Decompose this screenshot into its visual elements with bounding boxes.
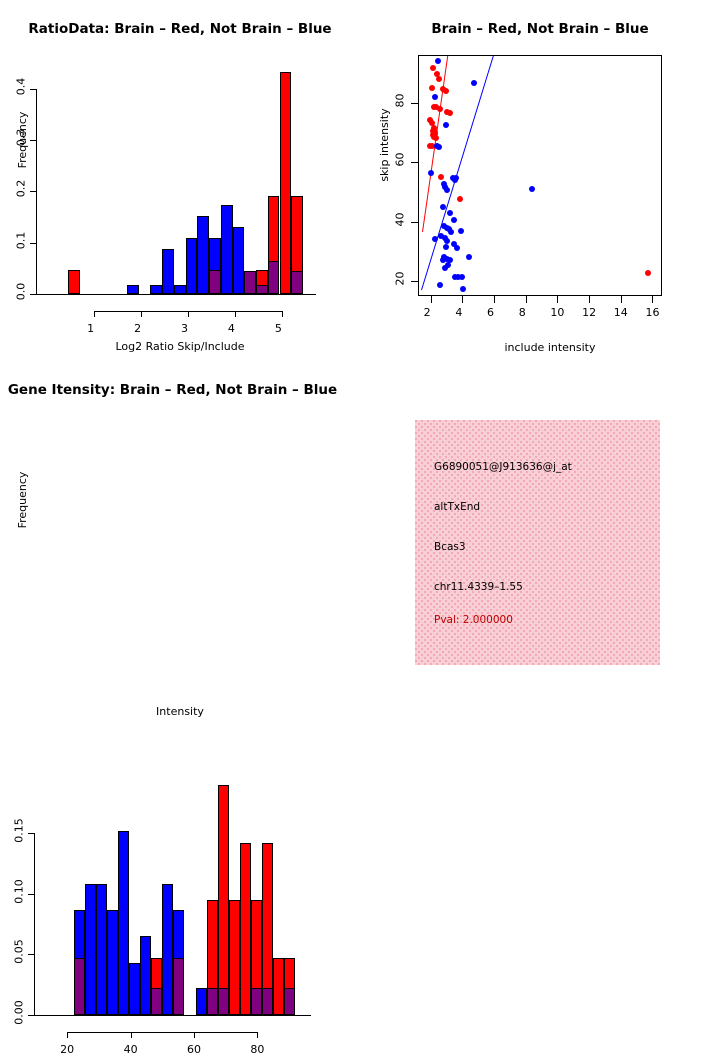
scatter-x-tick-label-3: 8 [519, 306, 526, 319]
y-tick-label-3: 0.3 [15, 122, 28, 152]
hist-bar-red-18 [273, 958, 284, 1015]
hist-bar-blue-14 [233, 227, 245, 294]
y-tick-label-3: 0.15 [13, 816, 26, 846]
hist-bar-blue-6 [140, 936, 151, 1015]
hist-bar-overlap-9 [173, 958, 184, 1015]
ratio-histogram-plot-area: 0.00.10.20.30.412345 [0, 0, 360, 360]
scatter-x-tick-6 [621, 296, 622, 303]
scatter-y-tick-3 [411, 103, 418, 104]
x-tick-label-1: 2 [134, 322, 141, 335]
hist-bar-red-0 [68, 270, 80, 294]
scatter-point-not-brain-5 [436, 144, 442, 150]
scatter-point-brain-24 [645, 270, 651, 276]
scatter-x-tick-label-5: 12 [582, 306, 596, 319]
x-tick-3 [235, 311, 236, 317]
scatter-point-not-brain-12 [444, 187, 450, 193]
hist-bar-overlap-19 [284, 988, 295, 1015]
scatter-x-tick-4 [557, 296, 558, 303]
scatter-x-tick-label-4: 10 [550, 306, 564, 319]
x-axis-line [67, 1032, 257, 1033]
scatter-point-brain-23 [457, 196, 463, 202]
scatter-point-not-brain-27 [443, 244, 449, 250]
scatter-x-tick-7 [652, 296, 653, 303]
hist-bar-overlap-15 [244, 271, 256, 294]
scatter-x-tick-3 [526, 296, 527, 303]
y-tick-label-2: 0.10 [13, 876, 26, 906]
hist-bar-blue-13 [221, 205, 233, 294]
scatter-point-not-brain-3 [443, 122, 449, 128]
hist-bar-blue-3 [107, 910, 118, 1015]
hist-bar-blue-5 [129, 963, 140, 1015]
x-tick-label-0: 1 [87, 322, 94, 335]
hist-bar-blue-7 [150, 285, 162, 294]
hist-bar-blue-9 [174, 285, 186, 294]
panel-gene-intensity-histogram: Gene Itensity: Brain – Red, Not Brain – … [0, 360, 360, 720]
y-tick-2 [30, 191, 36, 192]
scatter-y-tick-2 [411, 162, 418, 163]
scatter-point-not-brain-0 [435, 58, 441, 64]
probe-id-text: G6890051@J913636@j_at [434, 461, 572, 473]
hist-bar-blue-11 [197, 216, 209, 294]
hist-bar-red-15 [240, 843, 251, 1015]
scatter-clip [419, 56, 661, 295]
scatter-point-not-brain-6 [428, 170, 434, 176]
hist-bar-red-13 [218, 785, 229, 1015]
y-tick-label-4: 0.4 [15, 71, 28, 101]
scatter-y-tick-label-1: 40 [394, 204, 407, 234]
figure-canvas: RatioData: Brain – Red, Not Brain – Blue… [0, 0, 720, 720]
x-tick-label-2: 3 [181, 322, 188, 335]
y-tick-1 [28, 954, 34, 955]
hist-bar-overlap-17 [262, 988, 273, 1015]
scatter-y-tick-1 [411, 222, 418, 223]
scatter-x-tick-label-7: 16 [645, 306, 659, 319]
x-tick-4 [282, 311, 283, 317]
scatter-point-not-brain-35 [442, 265, 448, 271]
hist-bar-blue-11 [196, 988, 207, 1015]
scatter-point-not-brain-16 [451, 217, 457, 223]
y-tick-label-1: 0.1 [15, 225, 28, 255]
scatter-point-not-brain-15 [447, 210, 453, 216]
x-tick-label-1: 40 [124, 1043, 138, 1056]
scatter-point-brain-8 [437, 106, 443, 112]
scatter-point-not-brain-13 [529, 186, 535, 192]
scatter-plot-area: 20406080246810121416 [360, 0, 720, 360]
scatter-point-not-brain-1 [471, 80, 477, 86]
x-tick-label-3: 80 [250, 1043, 264, 1056]
y-tick-label-1: 0.05 [13, 937, 26, 967]
hist-bar-overlap-12 [209, 270, 221, 294]
scatter-x-tick-0 [431, 296, 432, 303]
hist-baseline [28, 1015, 311, 1016]
scatter-x-tick-label-6: 14 [614, 306, 628, 319]
hist-bar-red-18 [280, 72, 292, 294]
hist-bar-blue-4 [118, 831, 129, 1015]
scatter-point-brain-19 [433, 135, 439, 141]
y-tick-2 [28, 894, 34, 895]
x-tick-label-4: 5 [275, 322, 282, 335]
scatter-point-not-brain-39 [437, 282, 443, 288]
gene-intensity-plot-area: 0.000.050.100.1520406080 [0, 360, 360, 720]
x-tick-3 [257, 1032, 258, 1038]
hist-bar-overlap-7 [151, 988, 162, 1015]
hist-baseline [30, 294, 316, 295]
panel-intensity-scatter: Brain – Red, Not Brain – Blue skip inten… [360, 0, 720, 360]
hist-bar-blue-8 [162, 884, 173, 1015]
hist-bar-blue-10 [186, 238, 198, 294]
hist-bar-overlap-19 [291, 271, 303, 294]
hist-bar-overlap-16 [251, 988, 262, 1015]
x-tick-label-0: 20 [60, 1043, 74, 1056]
hist-bar-blue-1 [85, 884, 96, 1015]
y-axis-line [34, 833, 35, 1015]
scatter-point-brain-22 [438, 174, 444, 180]
scatter-point-not-brain-21 [448, 229, 454, 235]
probe-info-panel: G6890051@J913636@j_at altTxEnd Bcas3 chr… [415, 420, 660, 665]
hist-bar-overlap-17 [268, 261, 280, 294]
y-tick-label-0: 0.0 [15, 277, 28, 307]
scatter-y-tick-label-3: 80 [394, 85, 407, 115]
x-tick-label-3: 4 [228, 322, 235, 335]
gene-symbol-text: Bcas3 [434, 541, 466, 553]
y-tick-1 [30, 243, 36, 244]
hist-bar-overlap-12 [207, 988, 218, 1015]
scatter-point-not-brain-2 [432, 94, 438, 100]
scatter-y-tick-0 [411, 281, 418, 282]
scatter-y-tick-label-0: 20 [394, 264, 407, 294]
y-tick-label-2: 0.2 [15, 174, 28, 204]
x-tick-1 [131, 1032, 132, 1038]
scatter-x-tick-2 [494, 296, 495, 303]
x-tick-2 [194, 1032, 195, 1038]
scatter-x-tick-label-1: 4 [455, 306, 462, 319]
x-tick-0 [94, 311, 95, 317]
panel-ratio-histogram: RatioData: Brain – Red, Not Brain – Blue… [0, 0, 360, 360]
hist-bar-blue-8 [162, 249, 174, 294]
scatter-x-tick-1 [462, 296, 463, 303]
scatter-point-not-brain-32 [466, 254, 472, 260]
y-tick-3 [30, 140, 36, 141]
y-axis-line [36, 89, 37, 294]
scatter-x-tick-label-0: 2 [424, 306, 431, 319]
scatter-point-not-brain-28 [454, 245, 460, 251]
scatter-point-not-brain-38 [459, 274, 465, 280]
event-type-text: altTxEnd [434, 501, 480, 513]
hist-bar-red-14 [229, 900, 240, 1015]
x-tick-0 [67, 1032, 68, 1038]
hist-bar-overlap-13 [218, 988, 229, 1015]
scatter-point-not-brain-40 [460, 286, 466, 292]
hist-bar-blue-2 [96, 884, 107, 1015]
x-tick-2 [188, 311, 189, 317]
scatter-point-brain-3 [429, 85, 435, 91]
scatter-point-not-brain-9 [453, 175, 459, 181]
hist-bar-blue-5 [127, 285, 139, 294]
y-tick-4 [30, 89, 36, 90]
scatter-point-not-brain-20 [458, 228, 464, 234]
scatter-y-tick-label-2: 60 [394, 145, 407, 175]
x-tick-label-2: 60 [187, 1043, 201, 1056]
hist-bar-overlap-0 [74, 958, 85, 1015]
scatter-point-brain-10 [447, 110, 453, 116]
scatter-x-tick-5 [589, 296, 590, 303]
y-tick-3 [28, 833, 34, 834]
x-tick-1 [141, 311, 142, 317]
hist-bar-overlap-16 [256, 285, 268, 294]
location-text: chr11.4339–1.55 [434, 581, 523, 593]
scatter-point-brain-2 [436, 76, 442, 82]
y-tick-label-0: 0.00 [13, 998, 26, 1028]
scatter-x-tick-label-2: 6 [487, 306, 494, 319]
scatter-point-brain-5 [443, 88, 449, 94]
pval-text: Pval: 2.000000 [434, 614, 513, 626]
